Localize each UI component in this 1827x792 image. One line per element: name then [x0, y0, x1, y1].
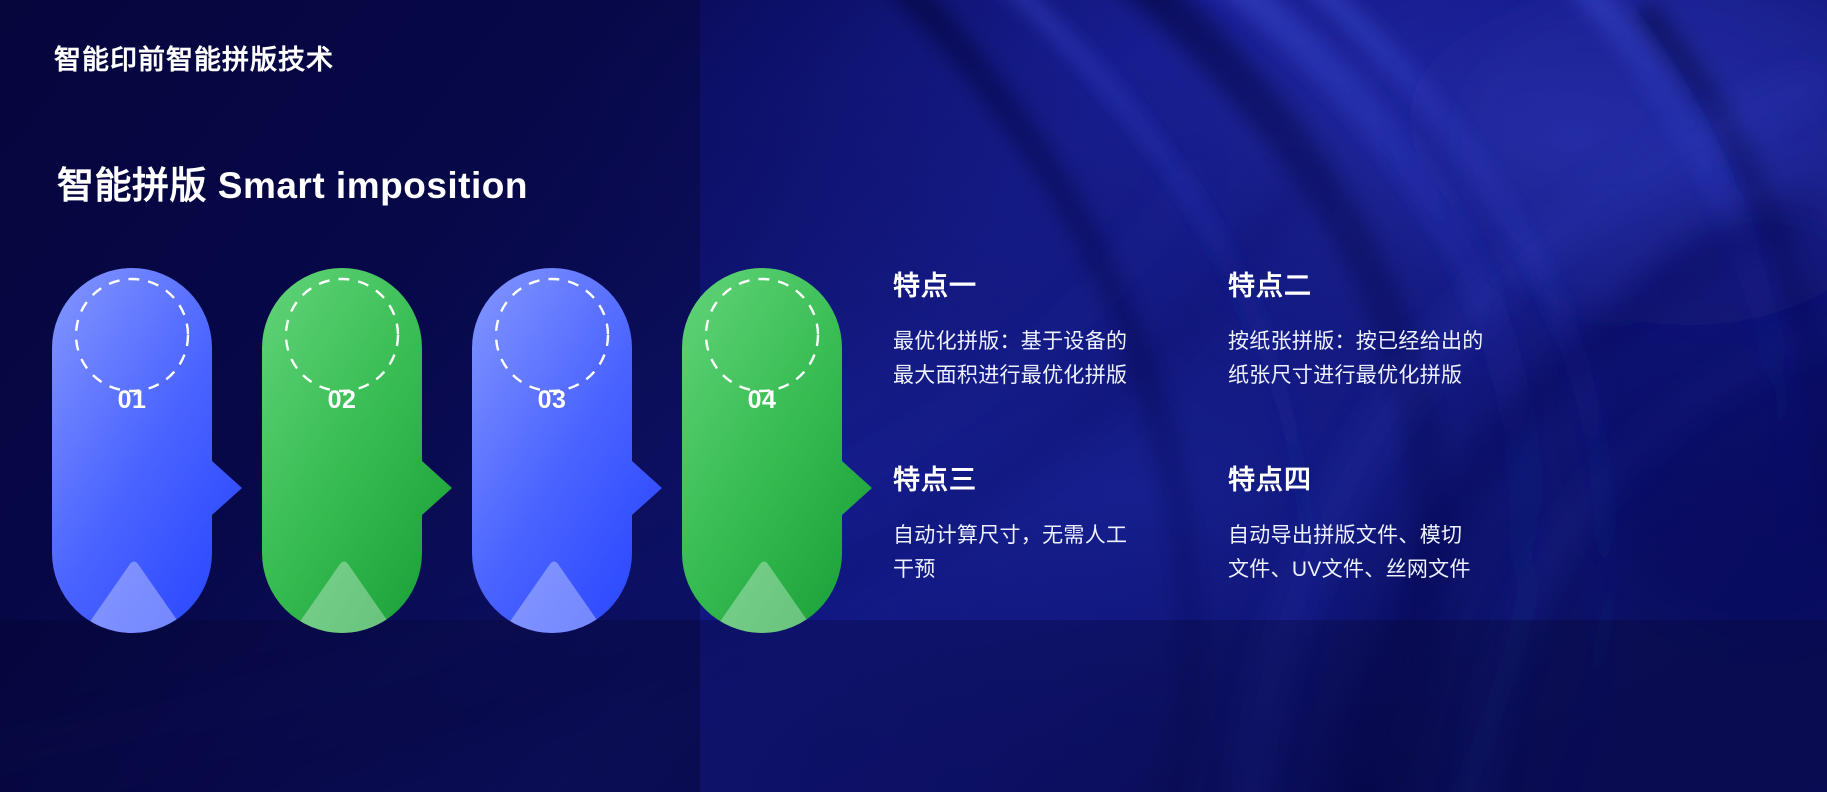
feature-block-1: 特点一 最优化拼版：基于设备的 最大面积进行最优化拼版: [893, 264, 1193, 393]
pill-shape-02: [262, 268, 472, 633]
feature-block-2: 特点二 按纸张拼版：按已经给出的 纸张尺寸进行最优化拼版: [1228, 264, 1528, 393]
feature-line: 干预: [893, 553, 1193, 587]
feature-body-2: 按纸张拼版：按已经给出的 纸张尺寸进行最优化拼版: [1228, 325, 1528, 393]
pill-04[interactable]: 04: [682, 268, 892, 633]
feature-line: 自动计算尺寸，无需人工: [893, 519, 1193, 553]
feature-line: 按纸张拼版：按已经给出的: [1228, 325, 1528, 359]
feature-title-2: 特点二: [1228, 264, 1528, 303]
pill-01[interactable]: 01: [52, 268, 262, 633]
pill-03[interactable]: 03: [472, 268, 682, 633]
pill-group: 01 02: [0, 0, 900, 792]
feature-title-1: 特点一: [893, 264, 1193, 303]
feature-block-3: 特点三 自动计算尺寸，无需人工 干预: [893, 458, 1193, 587]
feature-body-4: 自动导出拼版文件、模切 文件、UV文件、丝网文件: [1228, 519, 1528, 587]
feature-line: 最优化拼版：基于设备的: [893, 325, 1193, 359]
feature-body-3: 自动计算尺寸，无需人工 干预: [893, 519, 1193, 587]
pill-shape-03: [472, 268, 682, 633]
pill-02[interactable]: 02: [262, 268, 472, 633]
feature-body-1: 最优化拼版：基于设备的 最大面积进行最优化拼版: [893, 325, 1193, 393]
feature-block-4: 特点四 自动导出拼版文件、模切 文件、UV文件、丝网文件: [1228, 458, 1528, 587]
feature-line: 最大面积进行最优化拼版: [893, 359, 1193, 393]
feature-line: 自动导出拼版文件、模切: [1228, 519, 1528, 553]
pill-shape-04: [682, 268, 892, 633]
feature-line: 文件、UV文件、丝网文件: [1228, 553, 1528, 587]
feature-line: 纸张尺寸进行最优化拼版: [1228, 359, 1528, 393]
feature-title-4: 特点四: [1228, 458, 1528, 497]
pill-shape-01: [52, 268, 262, 633]
feature-title-3: 特点三: [893, 458, 1193, 497]
